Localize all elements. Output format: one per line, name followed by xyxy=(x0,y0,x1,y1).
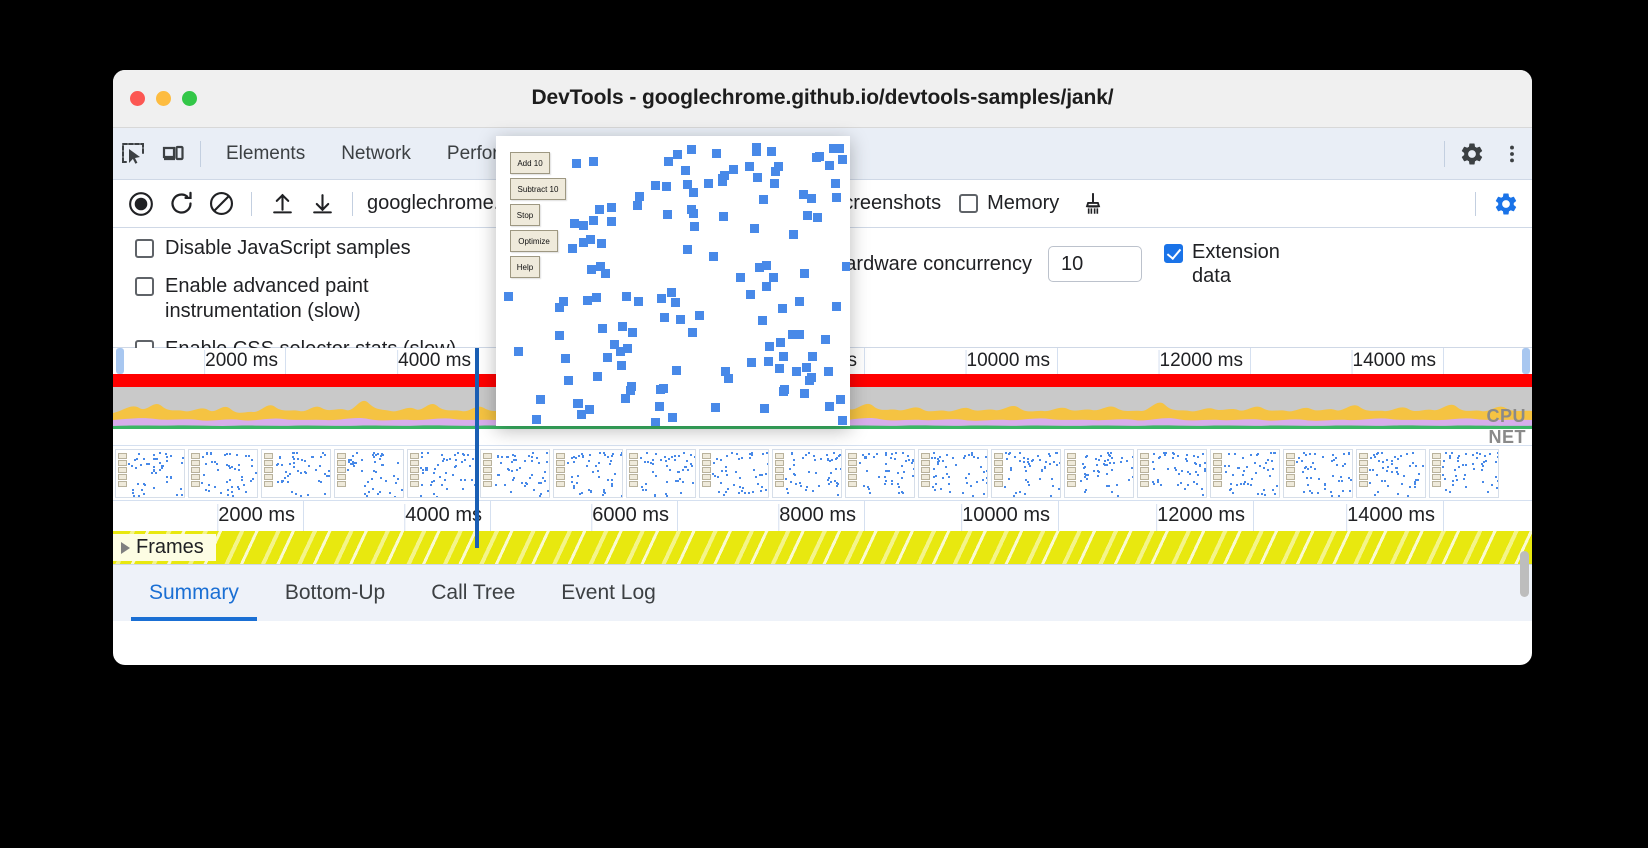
frame-dot xyxy=(862,454,864,456)
frame-dot xyxy=(813,455,815,457)
frame-dot xyxy=(159,469,161,471)
frame-dot xyxy=(912,459,914,461)
frame-dot xyxy=(533,489,535,491)
filmstrip-frame[interactable] xyxy=(188,449,258,498)
frame-dot xyxy=(827,479,829,481)
frame-dot xyxy=(1391,460,1393,462)
filmstrip-frame[interactable] xyxy=(115,449,185,498)
frame-dot xyxy=(666,465,668,467)
frame-dot xyxy=(1350,479,1352,481)
advanced-paint-checkbox-box[interactable] xyxy=(135,277,154,296)
more-vertical-icon[interactable] xyxy=(1492,134,1532,174)
page-dot xyxy=(664,157,673,166)
popup-button-help[interactable]: Help xyxy=(510,256,540,278)
frame-dot xyxy=(1481,469,1483,471)
inspected-page-popup[interactable]: Add 10 Subtract 10 Stop Optimize Help xyxy=(496,136,850,426)
timeline-ruler-bottom[interactable]: 2000 ms 4000 ms 6000 ms 8000 ms 10000 ms… xyxy=(113,501,1532,531)
frame-dot xyxy=(1197,456,1199,458)
frame-dot xyxy=(1349,490,1351,492)
selection-left-grip[interactable] xyxy=(116,348,124,374)
popup-button-add-10[interactable]: Add 10 xyxy=(510,152,550,174)
advanced-paint-label: Enable advanced paint instrumentation (s… xyxy=(165,274,369,324)
frame-dot xyxy=(1180,482,1182,484)
frame-dot xyxy=(439,476,441,478)
frame-dot xyxy=(829,460,831,462)
frame-dot xyxy=(1455,475,1457,477)
frame-dot xyxy=(1242,474,1244,476)
frame-dot xyxy=(425,469,427,471)
filmstrip-frame[interactable] xyxy=(699,449,769,498)
frame-dot xyxy=(538,462,540,464)
device-toolbar-icon[interactable] xyxy=(153,134,193,174)
inspect-element-icon[interactable] xyxy=(113,134,153,174)
frame-dot xyxy=(1240,483,1242,485)
frame-dot xyxy=(789,468,791,470)
frame-dot xyxy=(324,454,326,456)
frame-dot xyxy=(216,463,218,465)
upload-icon[interactable] xyxy=(262,184,302,224)
frame-dot xyxy=(1442,466,1444,468)
frame-dot xyxy=(828,477,830,479)
frame-dot xyxy=(968,473,970,475)
filmstrip-frame[interactable] xyxy=(772,449,842,498)
frame-dot xyxy=(1303,452,1305,454)
hardware-concurrency-input[interactable]: 10 xyxy=(1048,246,1142,282)
frame-dot xyxy=(1391,471,1393,473)
frame-dot xyxy=(742,487,744,489)
frame-dot xyxy=(955,464,957,466)
frame-dot xyxy=(1412,462,1414,464)
frame-dot xyxy=(1382,461,1384,463)
frame-dot xyxy=(353,465,355,467)
frame-dot xyxy=(1465,453,1467,455)
frame-dot xyxy=(504,484,506,486)
frame-dot xyxy=(463,454,465,456)
frame-dot xyxy=(911,462,913,464)
frame-dot xyxy=(1197,474,1199,476)
frame-dot xyxy=(1309,490,1311,492)
tab-bottom-up[interactable]: Bottom-Up xyxy=(267,565,403,621)
frame-dot xyxy=(1024,493,1026,495)
tab-call-tree[interactable]: Call Tree xyxy=(413,565,533,621)
frame-dot xyxy=(589,454,591,456)
frame-dot xyxy=(276,464,278,466)
disable-js-samples-checkbox-box[interactable] xyxy=(135,239,154,258)
frame-dot xyxy=(644,461,646,463)
frame-dot xyxy=(540,482,542,484)
frame-dot xyxy=(300,495,302,497)
frame-dot xyxy=(1096,464,1098,466)
frame-dot xyxy=(231,486,233,488)
page-dot xyxy=(617,361,626,370)
frame-dot xyxy=(1481,463,1483,465)
frame-dot xyxy=(1189,473,1191,475)
frame-dot xyxy=(539,495,541,497)
frame-dot xyxy=(1177,484,1179,486)
filmstrip-frame[interactable] xyxy=(261,449,331,498)
tab-event-log[interactable]: Event Log xyxy=(543,565,674,621)
frame-dot xyxy=(1243,470,1245,472)
frame-dot xyxy=(717,476,719,478)
page-dot xyxy=(610,340,619,349)
frame-dot xyxy=(366,495,368,497)
page-dot xyxy=(821,335,830,344)
page-dot xyxy=(709,252,718,261)
page-dot xyxy=(695,311,704,320)
frame-dot xyxy=(1005,452,1007,454)
frame-dot xyxy=(437,464,439,466)
frame-dot xyxy=(683,452,685,454)
frame-dot xyxy=(1238,467,1240,469)
frame-dot xyxy=(1082,463,1084,465)
page-dot xyxy=(835,144,844,153)
frame-buttons-thumb xyxy=(702,453,711,487)
frame-dot xyxy=(579,493,581,495)
frame-dot xyxy=(1109,462,1111,464)
frame-dot xyxy=(472,458,474,460)
popup-button-subtract-10[interactable]: Subtract 10 xyxy=(510,178,566,200)
frame-dot xyxy=(382,464,384,466)
frame-dot xyxy=(1452,484,1454,486)
frame-dot xyxy=(131,465,133,467)
frame-buttons-thumb xyxy=(994,453,1003,487)
tabstrip-divider-right xyxy=(1444,141,1445,167)
net-band-label: NET xyxy=(1489,427,1527,448)
page-dot xyxy=(762,261,771,270)
frame-dot xyxy=(757,483,759,485)
frame-dot xyxy=(1387,466,1389,468)
frame-dot xyxy=(1097,475,1099,477)
frame-dot xyxy=(738,492,740,494)
frame-dot xyxy=(713,462,715,464)
page-dot xyxy=(572,159,581,168)
filmstrip-frame[interactable] xyxy=(1356,449,1426,498)
filmstrip-track[interactable] xyxy=(113,446,1532,501)
frame-dot xyxy=(595,465,597,467)
page-dot xyxy=(779,352,788,361)
frame-dot xyxy=(181,494,183,496)
frame-dot xyxy=(374,461,376,463)
frame-dot xyxy=(287,475,289,477)
popup-button-stop[interactable]: Stop xyxy=(510,204,540,226)
frame-dot xyxy=(455,459,457,461)
frame-dot xyxy=(352,455,354,457)
gear-icon[interactable] xyxy=(1452,134,1492,174)
frames-track-header[interactable]: Frames xyxy=(113,534,216,561)
frame-dot xyxy=(576,482,578,484)
clear-icon[interactable] xyxy=(201,184,241,224)
frame-dot xyxy=(982,479,984,481)
frame-dot xyxy=(1407,495,1409,497)
frame-dot xyxy=(573,461,575,463)
frame-dot xyxy=(765,473,767,475)
frame-dot xyxy=(1482,465,1484,467)
frame-dot xyxy=(937,463,939,465)
frame-dot xyxy=(805,489,807,491)
frame-dot xyxy=(694,456,696,458)
broom-icon[interactable] xyxy=(1073,184,1113,224)
frame-dot xyxy=(660,459,662,461)
frame-dot xyxy=(379,491,381,493)
filmstrip-frame[interactable] xyxy=(918,449,988,498)
record-icon[interactable] xyxy=(121,184,161,224)
frame-dot xyxy=(457,452,459,454)
frame-dot xyxy=(791,453,793,455)
frame-dot xyxy=(1342,490,1344,492)
frame-dot xyxy=(1236,484,1238,486)
page-dot xyxy=(671,298,680,307)
page-dot xyxy=(795,330,804,339)
page-dot xyxy=(824,367,833,376)
frame-dot xyxy=(1029,465,1031,467)
frame-dot xyxy=(1128,479,1130,481)
frame-dot xyxy=(226,464,228,466)
page-dot xyxy=(746,290,755,299)
filmstrip-frame[interactable] xyxy=(626,449,696,498)
page-dot xyxy=(805,376,814,385)
frame-dot xyxy=(1377,452,1379,454)
frame-dot xyxy=(153,469,155,471)
frame-dot xyxy=(912,475,914,477)
frame-dot xyxy=(364,485,366,487)
frame-dot xyxy=(664,456,666,458)
frame-dot xyxy=(913,468,915,470)
frame-dot xyxy=(830,472,832,474)
page-dot xyxy=(712,149,721,158)
page-dot xyxy=(651,181,660,190)
filmstrip-frame[interactable] xyxy=(991,449,1061,498)
vertical-scrollbar-thumb[interactable] xyxy=(1520,551,1529,597)
frame-dot xyxy=(582,456,584,458)
ruler-top-label-4: 10000 ms xyxy=(966,350,1057,376)
frame-dot xyxy=(828,483,830,485)
frame-dot xyxy=(826,454,828,456)
frame-dot xyxy=(685,466,687,468)
frame-dot xyxy=(1414,481,1416,483)
frame-dot xyxy=(291,491,293,493)
frame-dot xyxy=(1372,469,1374,471)
frame-dot xyxy=(1397,473,1399,475)
frame-dot xyxy=(300,472,302,474)
frame-dot xyxy=(946,473,948,475)
frame-dot xyxy=(986,470,988,472)
frame-dot xyxy=(655,475,657,477)
disable-js-samples-checkbox[interactable]: Disable JavaScript samples xyxy=(135,236,456,261)
frame-dot xyxy=(1181,470,1183,472)
frame-dot xyxy=(546,461,548,463)
page-dot xyxy=(771,167,780,176)
frame-dot xyxy=(736,453,738,455)
frame-dot xyxy=(234,468,236,470)
frame-dot xyxy=(243,484,245,486)
download-icon[interactable] xyxy=(302,184,342,224)
extension-data-label: Extension data xyxy=(1192,240,1302,288)
frame-dot xyxy=(176,494,178,496)
frame-dot xyxy=(1473,468,1475,470)
frame-dot xyxy=(1255,472,1257,474)
frame-dot xyxy=(1270,452,1272,454)
frame-dot xyxy=(1172,457,1174,459)
frame-dot xyxy=(1306,477,1308,479)
memory-label: Memory xyxy=(987,192,1059,215)
frame-dot xyxy=(1126,460,1128,462)
selection-right-grip[interactable] xyxy=(1522,348,1530,374)
filmstrip-frame[interactable] xyxy=(845,449,915,498)
frame-dot xyxy=(885,463,887,465)
frame-dot xyxy=(1303,491,1305,493)
frame-dot xyxy=(293,466,295,468)
blue-gear-icon[interactable] xyxy=(1486,184,1526,224)
frame-dot xyxy=(679,478,681,480)
frame-dot xyxy=(455,465,457,467)
frame-dot xyxy=(741,490,743,492)
frame-dot xyxy=(678,455,680,457)
frame-dot xyxy=(524,460,526,462)
frame-dot xyxy=(460,479,462,481)
filmstrip-frame[interactable] xyxy=(1429,449,1499,498)
frame-dot xyxy=(1193,455,1195,457)
ruler-tick xyxy=(490,501,491,531)
frame-dot xyxy=(901,477,903,479)
page-dot xyxy=(780,385,789,394)
filmstrip-frame[interactable] xyxy=(407,449,477,498)
frame-dot xyxy=(980,466,982,468)
timeline-playhead[interactable] xyxy=(475,348,479,548)
frame-dot xyxy=(1173,453,1175,455)
memory-checkbox-box[interactable] xyxy=(959,194,978,213)
frame-dot xyxy=(1309,453,1311,455)
frame-dot xyxy=(444,479,446,481)
frame-dot xyxy=(1250,454,1252,456)
frame-dot xyxy=(1028,484,1030,486)
frame-dot xyxy=(433,472,435,474)
tab-summary[interactable]: Summary xyxy=(131,565,257,621)
frame-dot xyxy=(1264,494,1266,496)
frame-dot xyxy=(151,472,153,474)
collapsed-triangle-icon[interactable] xyxy=(121,542,130,554)
frame-dot xyxy=(1106,464,1108,466)
frame-dot xyxy=(1027,461,1029,463)
filmstrip-frame[interactable] xyxy=(480,449,550,498)
frame-dot xyxy=(604,454,606,456)
frame-dot xyxy=(1251,478,1253,480)
frame-dot xyxy=(686,460,688,462)
tab-network[interactable]: Network xyxy=(323,128,429,180)
popup-button-optimize[interactable]: Optimize xyxy=(510,230,558,252)
frame-dot xyxy=(1228,453,1230,455)
frame-dot xyxy=(1482,481,1484,483)
frame-dot xyxy=(682,481,684,483)
frame-dot xyxy=(319,465,321,467)
frame-dot xyxy=(138,495,140,497)
frame-dot xyxy=(1307,468,1309,470)
frame-dot xyxy=(837,483,839,485)
filmstrip-frame[interactable] xyxy=(1283,449,1353,498)
filmstrip-frame[interactable] xyxy=(1137,449,1207,498)
memory-checkbox[interactable]: Memory xyxy=(959,192,1059,215)
frame-dot xyxy=(181,462,183,464)
frame-dot xyxy=(677,480,679,482)
frame-buttons-thumb xyxy=(921,453,930,487)
frame-dot xyxy=(891,453,893,455)
extension-data-checkbox-box[interactable] xyxy=(1164,244,1183,263)
frame-dot xyxy=(1108,485,1110,487)
frame-dot xyxy=(859,462,861,464)
frame-dot xyxy=(236,454,238,456)
frame-dot xyxy=(285,471,287,473)
frame-dot xyxy=(442,460,444,462)
frame-dot xyxy=(1445,452,1447,454)
filmstrip-frame[interactable] xyxy=(1064,449,1134,498)
frame-dot xyxy=(1265,462,1267,464)
frame-dot xyxy=(935,475,937,477)
frame-buttons-thumb xyxy=(848,453,857,487)
frame-dot xyxy=(815,472,817,474)
frames-track[interactable]: Frames xyxy=(113,531,1532,565)
frame-dot xyxy=(611,479,613,481)
frame-dot xyxy=(307,494,309,496)
frame-dot xyxy=(573,456,575,458)
frame-dot xyxy=(787,492,789,494)
frame-dot xyxy=(377,493,379,495)
tab-elements[interactable]: Elements xyxy=(208,128,323,180)
frame-dot xyxy=(1386,459,1388,461)
page-dot xyxy=(813,213,822,222)
page-dot xyxy=(704,179,713,188)
frame-dot xyxy=(251,459,253,461)
frame-dot xyxy=(540,493,542,495)
frame-dot xyxy=(1084,476,1086,478)
capture-settings-checkbox-column: Disable JavaScript samples Enable advanc… xyxy=(135,236,456,347)
frame-dot xyxy=(245,455,247,457)
advanced-paint-instrumentation-checkbox[interactable]: Enable advanced paint instrumentation (s… xyxy=(135,274,456,324)
filmstrip-frame[interactable] xyxy=(553,449,623,498)
frame-dot xyxy=(901,491,903,493)
ruler-tick xyxy=(1058,501,1059,531)
frame-dot xyxy=(611,455,613,457)
frame-dot xyxy=(1382,467,1384,469)
filmstrip-frame[interactable] xyxy=(334,449,404,498)
extension-data-checkbox[interactable]: Extension data xyxy=(1164,240,1302,288)
page-dot xyxy=(795,297,804,306)
frame-dot xyxy=(320,481,322,483)
frame-dot xyxy=(1039,478,1041,480)
filmstrip-frame[interactable] xyxy=(1210,449,1280,498)
frame-dot xyxy=(1175,469,1177,471)
frame-dot xyxy=(1247,483,1249,485)
ruler-tick xyxy=(1443,348,1444,374)
reload-and-record-icon[interactable] xyxy=(161,184,201,224)
frame-dot xyxy=(1242,457,1244,459)
frame-dot xyxy=(136,458,138,460)
network-band[interactable]: NET xyxy=(113,429,1532,446)
frame-dot xyxy=(1324,488,1326,490)
frame-dot xyxy=(1013,495,1015,497)
frame-dot xyxy=(948,476,950,478)
frame-dot xyxy=(371,478,373,480)
frame-dot xyxy=(1053,461,1055,463)
frame-dot xyxy=(690,463,692,465)
toolbar-divider-1 xyxy=(251,192,252,216)
frame-dot xyxy=(1086,455,1088,457)
frame-dot xyxy=(182,457,184,459)
frame-dot xyxy=(379,458,381,460)
frame-dot xyxy=(1338,495,1340,497)
frame-dot xyxy=(1341,480,1343,482)
frame-dot xyxy=(795,483,797,485)
frame-dot xyxy=(731,452,733,454)
frame-dot xyxy=(808,471,810,473)
